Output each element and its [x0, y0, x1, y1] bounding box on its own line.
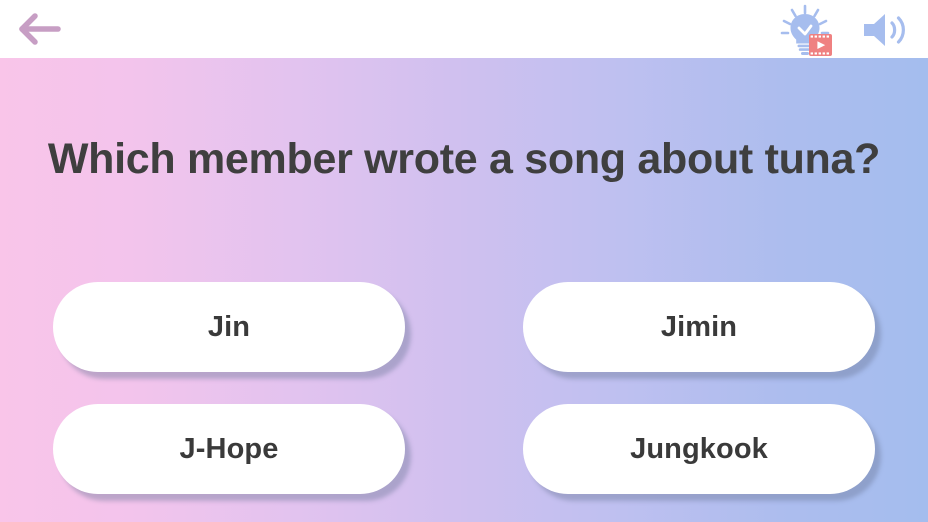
answer-option-3[interactable]: J-Hope: [53, 404, 405, 494]
top-header-bar: [0, 0, 928, 58]
answer-options-grid: Jin Jimin J-Hope Jungkook: [53, 282, 875, 494]
quiz-content-area: Which member wrote a song about tuna? Ji…: [0, 58, 928, 522]
header-actions: [778, 4, 910, 56]
answer-option-2[interactable]: Jimin: [523, 282, 875, 372]
question-text: Which member wrote a song about tuna?: [0, 136, 928, 183]
sound-button[interactable]: [860, 8, 910, 52]
hint-button[interactable]: [778, 4, 832, 56]
speaker-sound-icon: [860, 8, 910, 52]
video-play-badge-icon: [809, 34, 832, 56]
answer-option-4[interactable]: Jungkook: [523, 404, 875, 494]
answer-option-1[interactable]: Jin: [53, 282, 405, 372]
arrow-left-icon: [18, 10, 62, 48]
quiz-screen: Which member wrote a song about tuna? Ji…: [0, 0, 928, 522]
back-button[interactable]: [18, 10, 62, 48]
